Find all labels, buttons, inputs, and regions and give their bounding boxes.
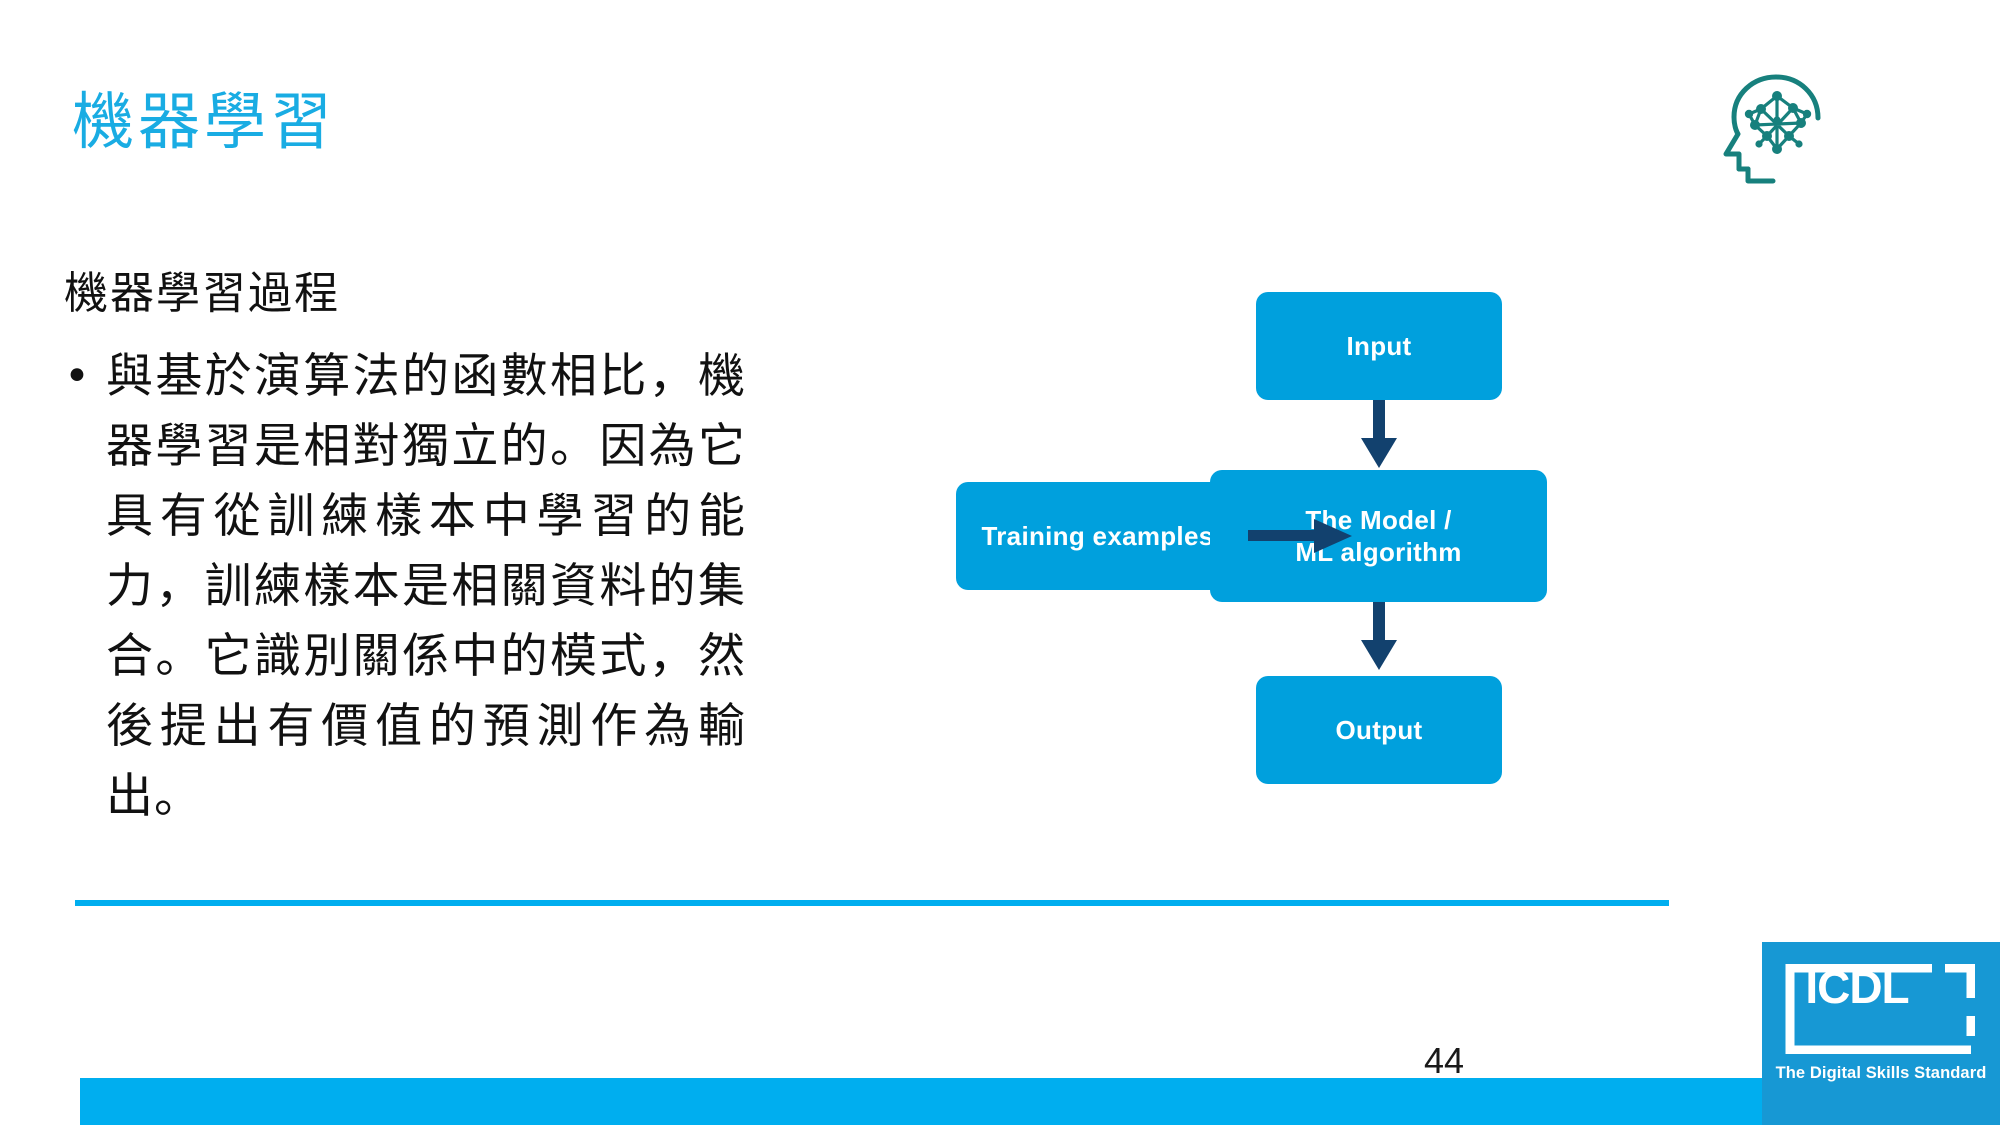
diagram-node-output-label: Output bbox=[1336, 714, 1423, 747]
arrow-down-input-to-model-icon bbox=[1351, 400, 1407, 470]
page-number: 44 bbox=[1424, 1040, 1464, 1082]
diagram-node-training-label: Training examples bbox=[982, 520, 1214, 553]
body-content: 機器學習過程 • 與基於演算法的函數相比，機器學習是相對獨立的。因為它具有從訓練… bbox=[64, 272, 904, 832]
slide-canvas: 機器學習 bbox=[0, 0, 2000, 1125]
brain-head-icon bbox=[1715, 70, 1835, 185]
ml-process-diagram: Input Training examples The Model / ML a… bbox=[960, 270, 1900, 850]
diagram-node-input: Input bbox=[1256, 292, 1502, 400]
bullet-item: • 與基於演算法的函數相比，機器學習是相對獨立的。因為它具有從訓練樣本中學習的能… bbox=[64, 342, 904, 832]
page-title: 機器學習 bbox=[72, 88, 336, 156]
footer-bar bbox=[80, 1078, 2000, 1125]
diagram-node-training-examples: Training examples bbox=[956, 482, 1239, 590]
icdl-wordmark: ICDL bbox=[1762, 962, 1952, 1012]
arrow-right-training-to-model-icon bbox=[1248, 514, 1358, 558]
icdl-logo: ICDL The Digital Skills Standard bbox=[1762, 942, 2000, 1125]
diagram-node-output: Output bbox=[1256, 676, 1502, 784]
diagram-node-input-label: Input bbox=[1346, 330, 1411, 363]
icdl-tagline: The Digital Skills Standard bbox=[1762, 1064, 2000, 1083]
arrow-down-model-to-output-icon bbox=[1351, 602, 1407, 672]
footer-divider bbox=[75, 900, 1669, 906]
bullet-marker: • bbox=[64, 342, 106, 412]
bullet-paragraph: 與基於演算法的函數相比，機器學習是相對獨立的。因為它具有從訓練樣本中學習的能力，… bbox=[106, 342, 746, 832]
subheading: 機器學習過程 bbox=[64, 272, 904, 316]
